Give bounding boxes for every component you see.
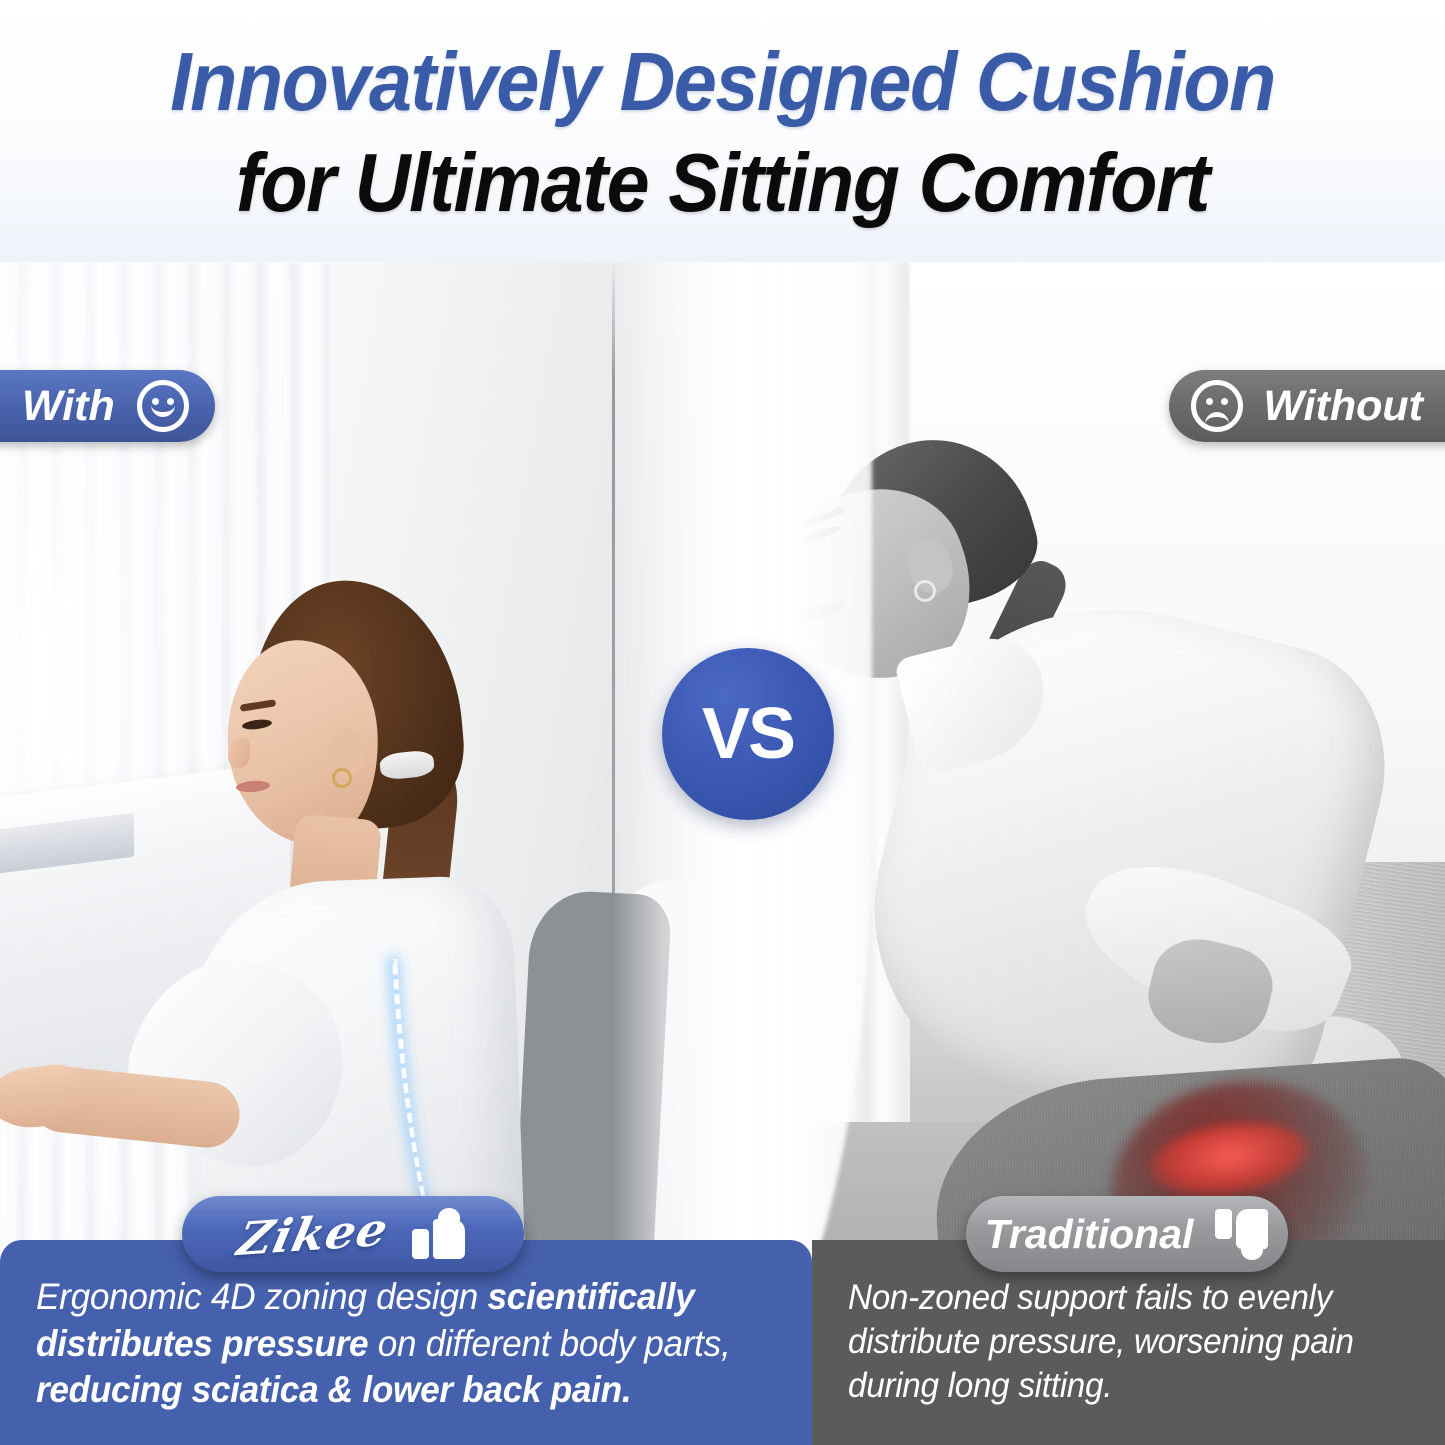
hoop-earring <box>332 768 352 788</box>
page-title-line2: for Ultimate Sitting Comfort <box>51 123 1395 224</box>
thumbs-up-icon <box>412 1207 466 1261</box>
traditional-badge[interactable]: Traditional <box>966 1196 1288 1272</box>
with-badge-label: With <box>22 382 115 431</box>
without-badge[interactable]: Without <box>1169 370 1445 442</box>
without-badge-label: Without <box>1263 382 1423 431</box>
page-title-line1: Innovatively Designed Cushion <box>51 0 1395 123</box>
nose <box>228 738 250 768</box>
vs-badge: VS <box>662 648 834 820</box>
vs-label: VS <box>702 693 794 775</box>
product-comparison-poster: Innovatively Designed Cushion for Ultima… <box>0 0 1445 1445</box>
zikee-wordmark: Zikee <box>233 1202 394 1266</box>
with-badge[interactable]: With <box>0 370 215 442</box>
smiley-sad-face-icon <box>1191 380 1243 432</box>
hoop-earring-grey <box>914 580 936 602</box>
traditional-label: Traditional <box>985 1211 1194 1258</box>
thumbs-down-icon <box>1215 1207 1269 1261</box>
right-caption-text: Non-zoned support fails to evenly distri… <box>848 1276 1383 1408</box>
smiley-happy-face-icon <box>137 380 189 432</box>
left-caption-text: Ergonomic 4D zoning design scientificall… <box>36 1274 749 1414</box>
header-banner: Innovatively Designed Cushion for Ultima… <box>0 0 1445 262</box>
zikee-brand-badge[interactable]: Zikee <box>182 1196 524 1272</box>
